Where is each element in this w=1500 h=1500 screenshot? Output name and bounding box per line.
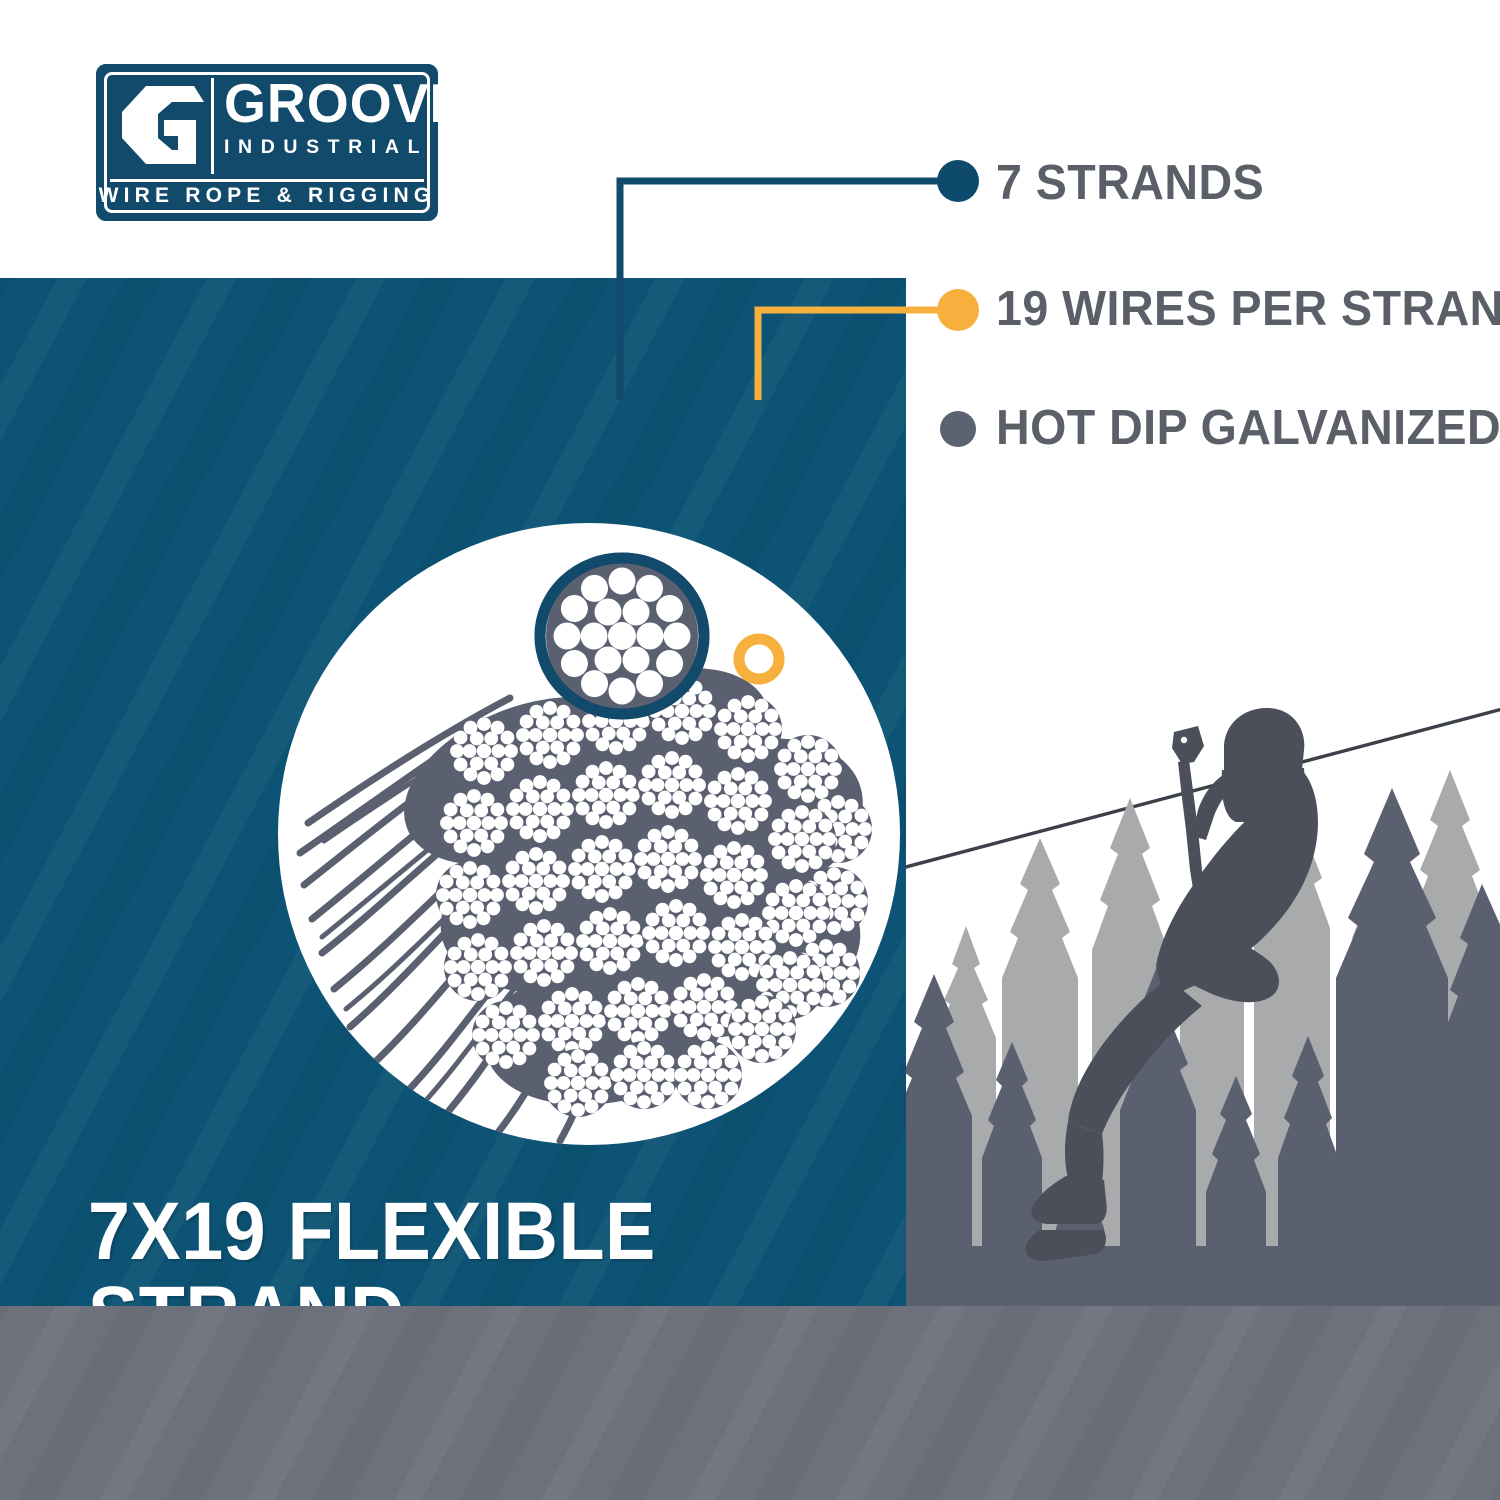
callout-label-wires: 19 WIRES PER STRAND [996,285,1500,334]
orange-dot-icon [937,289,979,331]
gray-dot-icon [940,411,976,447]
callout-connectors [0,0,1500,1500]
navy-connector-line [620,181,958,400]
infographic-canvas: GROOVE INDUSTRIAL WIRE ROPE & RIGGING [0,0,1500,1500]
orange-connector-line [758,310,958,400]
callout-label-galvanized: HOT DIP GALVANIZED [996,404,1500,453]
callout-label-strands: 7 STRANDS [996,159,1264,208]
navy-dot-icon [937,160,979,202]
